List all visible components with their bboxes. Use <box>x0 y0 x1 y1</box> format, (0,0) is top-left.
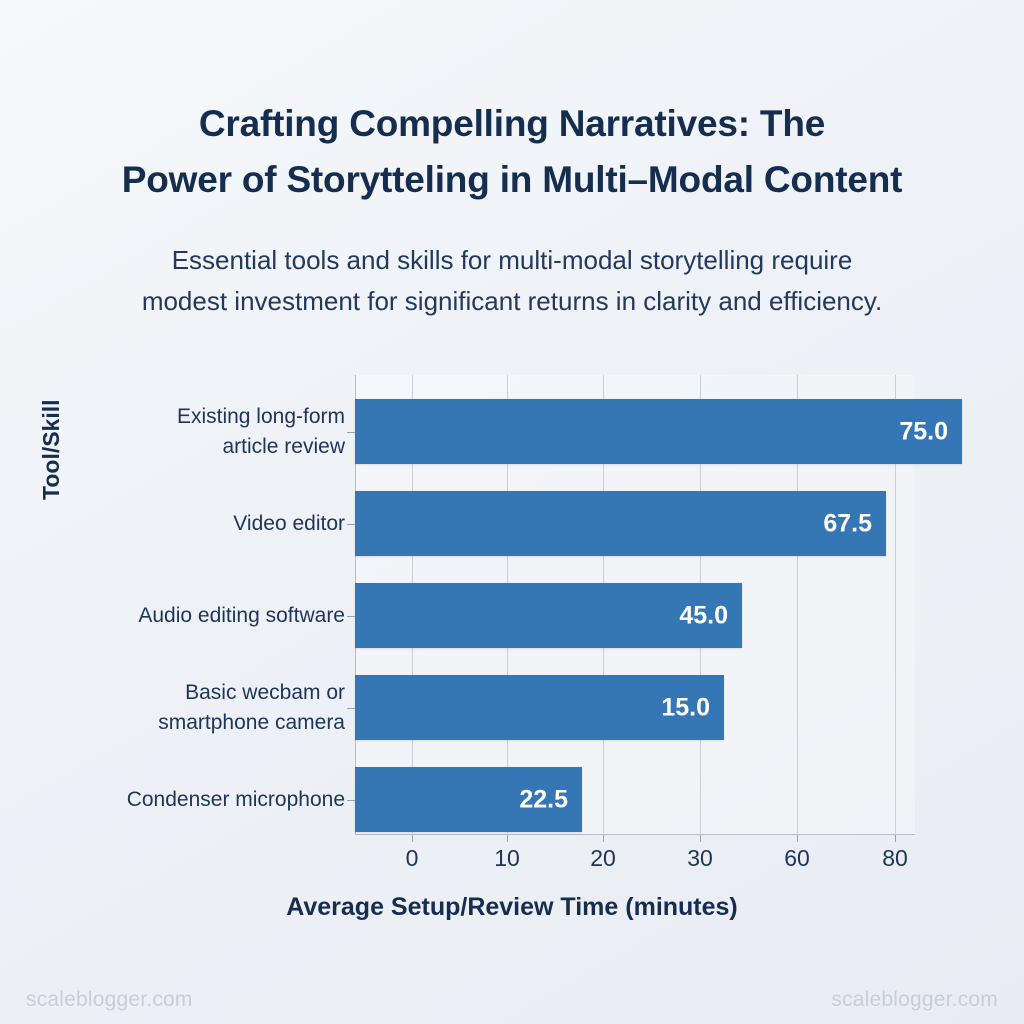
category-label-line: Video editor <box>85 509 345 539</box>
category-label-line: Condenser microphone <box>85 785 345 815</box>
bar[interactable]: 75.0 <box>355 399 962 464</box>
category-label: Condenser microphone <box>85 785 345 815</box>
x-tick-label: 30 <box>670 845 730 872</box>
bar[interactable]: 45.0 <box>355 583 742 648</box>
watermark-right: scaleblogger.com <box>831 988 998 1012</box>
title-line-2: Power of Storytteling in Multi–Modal Con… <box>0 152 1024 208</box>
bar[interactable]: 15.0 <box>355 675 724 740</box>
x-tick-mark <box>895 835 896 842</box>
subtitle-line-2: modest investment for significant return… <box>0 281 1024 322</box>
x-axis-line <box>355 834 915 835</box>
x-tick-label: 80 <box>865 845 925 872</box>
x-tick-mark <box>507 835 508 842</box>
bar-value-label: 75.0 <box>899 417 948 446</box>
category-label: Existing long-formarticle review <box>85 402 345 462</box>
x-tick-label: 20 <box>573 845 633 872</box>
bar-value-label: 22.5 <box>519 785 568 814</box>
category-label-line: Audio editing software <box>85 601 345 631</box>
page-title: Crafting Compelling Narratives: The Powe… <box>0 96 1024 208</box>
page-subtitle: Essential tools and skills for multi-mod… <box>0 240 1024 322</box>
x-axis-title: Average Setup/Review Time (minutes) <box>0 893 1024 922</box>
category-label: Video editor <box>85 509 345 539</box>
bar[interactable]: 67.5 <box>355 491 886 556</box>
y-axis-title: Tool/Skill <box>38 399 65 500</box>
watermark-left: scaleblogger.com <box>26 988 193 1012</box>
category-label-line: Basic wecbam or <box>85 678 345 708</box>
x-tick-label: 60 <box>767 845 827 872</box>
subtitle-line-1: Essential tools and skills for multi-mod… <box>0 240 1024 281</box>
category-label-line: article review <box>85 432 345 462</box>
x-tick-mark <box>412 835 413 842</box>
x-tick-label: 10 <box>477 845 537 872</box>
bar-value-label: 15.0 <box>661 693 710 722</box>
title-line-1: Crafting Compelling Narratives: The <box>0 96 1024 152</box>
bar[interactable]: 22.5 <box>355 767 582 832</box>
bar-value-label: 45.0 <box>679 601 728 630</box>
y-tick-mark <box>347 432 355 433</box>
bar-value-label: 67.5 <box>823 509 872 538</box>
category-label-line: smartphone camera <box>85 708 345 738</box>
x-tick-mark <box>603 835 604 842</box>
y-tick-mark <box>347 708 355 709</box>
y-tick-mark <box>347 524 355 525</box>
x-tick-mark <box>700 835 701 842</box>
category-label-line: Existing long-form <box>85 402 345 432</box>
infographic-canvas: Crafting Compelling Narratives: The Powe… <box>0 0 1024 1024</box>
x-tick-mark <box>797 835 798 842</box>
category-label: Basic wecbam orsmartphone camera <box>85 678 345 738</box>
bar-chart-plot-area: 0102030608075.067.545.015.022.5 <box>355 375 915 835</box>
y-tick-mark <box>347 800 355 801</box>
x-tick-label: 0 <box>382 845 442 872</box>
y-tick-mark <box>347 616 355 617</box>
category-label: Audio editing software <box>85 601 345 631</box>
